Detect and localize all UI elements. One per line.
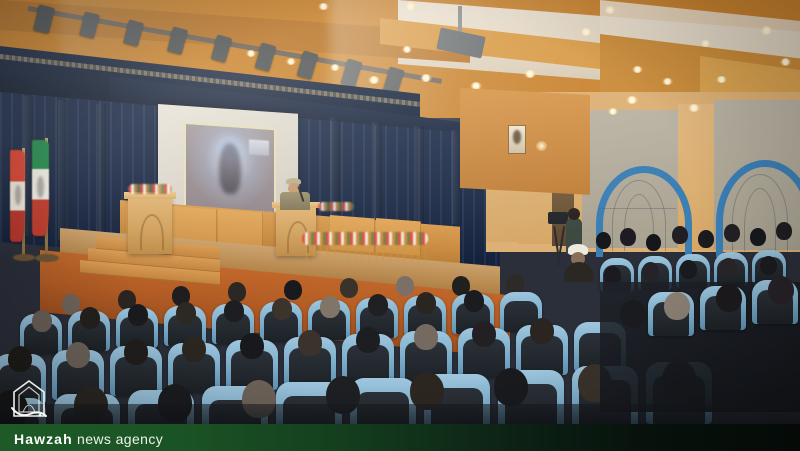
audience-head — [698, 230, 714, 248]
downlight-icon — [604, 6, 616, 14]
speaker-at-podium — [278, 178, 314, 208]
audience-head — [298, 330, 322, 356]
downlight-icon — [420, 74, 432, 82]
audience-head — [8, 346, 32, 372]
curtain-fold — [372, 122, 382, 228]
curtain-fold — [96, 104, 106, 240]
audience-head — [750, 228, 766, 246]
projector-mount — [458, 6, 462, 34]
flag-base — [13, 254, 35, 261]
audience-head — [320, 296, 340, 318]
audience-head — [272, 298, 292, 320]
downlight-icon — [368, 76, 380, 84]
audience-head — [32, 310, 52, 332]
downlight-icon — [246, 50, 256, 57]
audience-head — [716, 284, 742, 312]
curtain-fold — [414, 126, 424, 226]
audience-head — [776, 222, 792, 240]
iranian-flag — [10, 150, 25, 242]
audience-head — [620, 228, 636, 246]
arch-lattice-line — [598, 208, 676, 209]
flag-emblem-icon — [37, 176, 44, 197]
downlight-icon — [688, 104, 700, 112]
downlight-icon — [318, 3, 329, 10]
audience-head — [642, 262, 659, 281]
watermark-brand: Hawzah — [14, 431, 73, 447]
cameraman-head — [568, 208, 580, 220]
audience-head — [416, 292, 436, 314]
watermark-tagline: news agency — [77, 431, 163, 447]
audience-head — [182, 336, 206, 362]
audience-head — [720, 258, 737, 277]
stage-flowers — [302, 232, 428, 245]
audience-head — [464, 290, 484, 312]
projected-slide — [184, 122, 276, 214]
downlight-icon — [608, 108, 618, 115]
downlight-icon — [402, 46, 412, 53]
audience-head — [128, 304, 148, 326]
audience-head — [414, 324, 438, 350]
flag-emblem-icon — [15, 185, 21, 205]
audience-head — [620, 300, 646, 328]
audience-head — [760, 256, 777, 275]
audience-head — [646, 234, 661, 251]
wall-portrait — [508, 125, 526, 154]
downlight-icon — [330, 64, 340, 71]
slide-inset — [249, 140, 268, 156]
downlight-icon — [404, 2, 417, 11]
podium-left — [128, 196, 172, 254]
downlight-icon — [662, 78, 673, 85]
audience-head — [80, 307, 100, 329]
audience-head — [530, 318, 554, 344]
curtain-fold — [58, 100, 68, 240]
podium-flowers — [128, 184, 172, 194]
audience-head — [340, 278, 358, 298]
downlight-icon — [626, 96, 638, 104]
hawzah-logo — [6, 378, 52, 422]
downlight-icon — [700, 40, 711, 47]
downlight-icon — [716, 76, 727, 83]
audience-head — [368, 294, 388, 316]
audience-head — [356, 327, 380, 353]
audience-head — [506, 274, 524, 294]
downlight-icon — [580, 28, 592, 36]
slide-figure — [219, 143, 240, 195]
audience-head — [396, 276, 414, 296]
audience-head — [680, 260, 697, 279]
portrait-face — [513, 130, 522, 144]
downlight-icon — [780, 58, 791, 66]
audience-cleric — [566, 244, 592, 276]
stage-flowers — [318, 202, 354, 211]
audience-head — [472, 321, 496, 347]
audience-head — [768, 276, 794, 304]
audience-head — [672, 226, 688, 244]
wall-sconce-icon — [536, 141, 547, 151]
downlight-icon — [524, 70, 536, 78]
audience-head — [66, 342, 90, 368]
curtain-fold — [330, 118, 340, 228]
audience-head — [224, 300, 244, 322]
auditorium-photograph: Hawzah news agency — [0, 0, 800, 451]
downlight-icon — [760, 26, 773, 35]
downlight-icon — [286, 58, 296, 65]
iranian-flag — [32, 140, 49, 236]
video-camera-icon — [548, 212, 568, 224]
downlight-icon — [632, 66, 643, 73]
audience-head — [494, 368, 528, 406]
audience-head — [664, 292, 690, 320]
audience-head — [284, 280, 302, 300]
audience-shoulders — [564, 262, 594, 282]
audience-head — [176, 302, 196, 324]
flag-base — [35, 254, 59, 262]
audience-head — [724, 224, 740, 242]
podium-arch-detail — [140, 214, 164, 250]
audience-head — [596, 232, 611, 249]
audience-head — [240, 333, 264, 359]
audience-head — [124, 339, 148, 365]
speaker-body — [280, 192, 310, 210]
watermark-text: Hawzah news agency — [14, 431, 163, 447]
